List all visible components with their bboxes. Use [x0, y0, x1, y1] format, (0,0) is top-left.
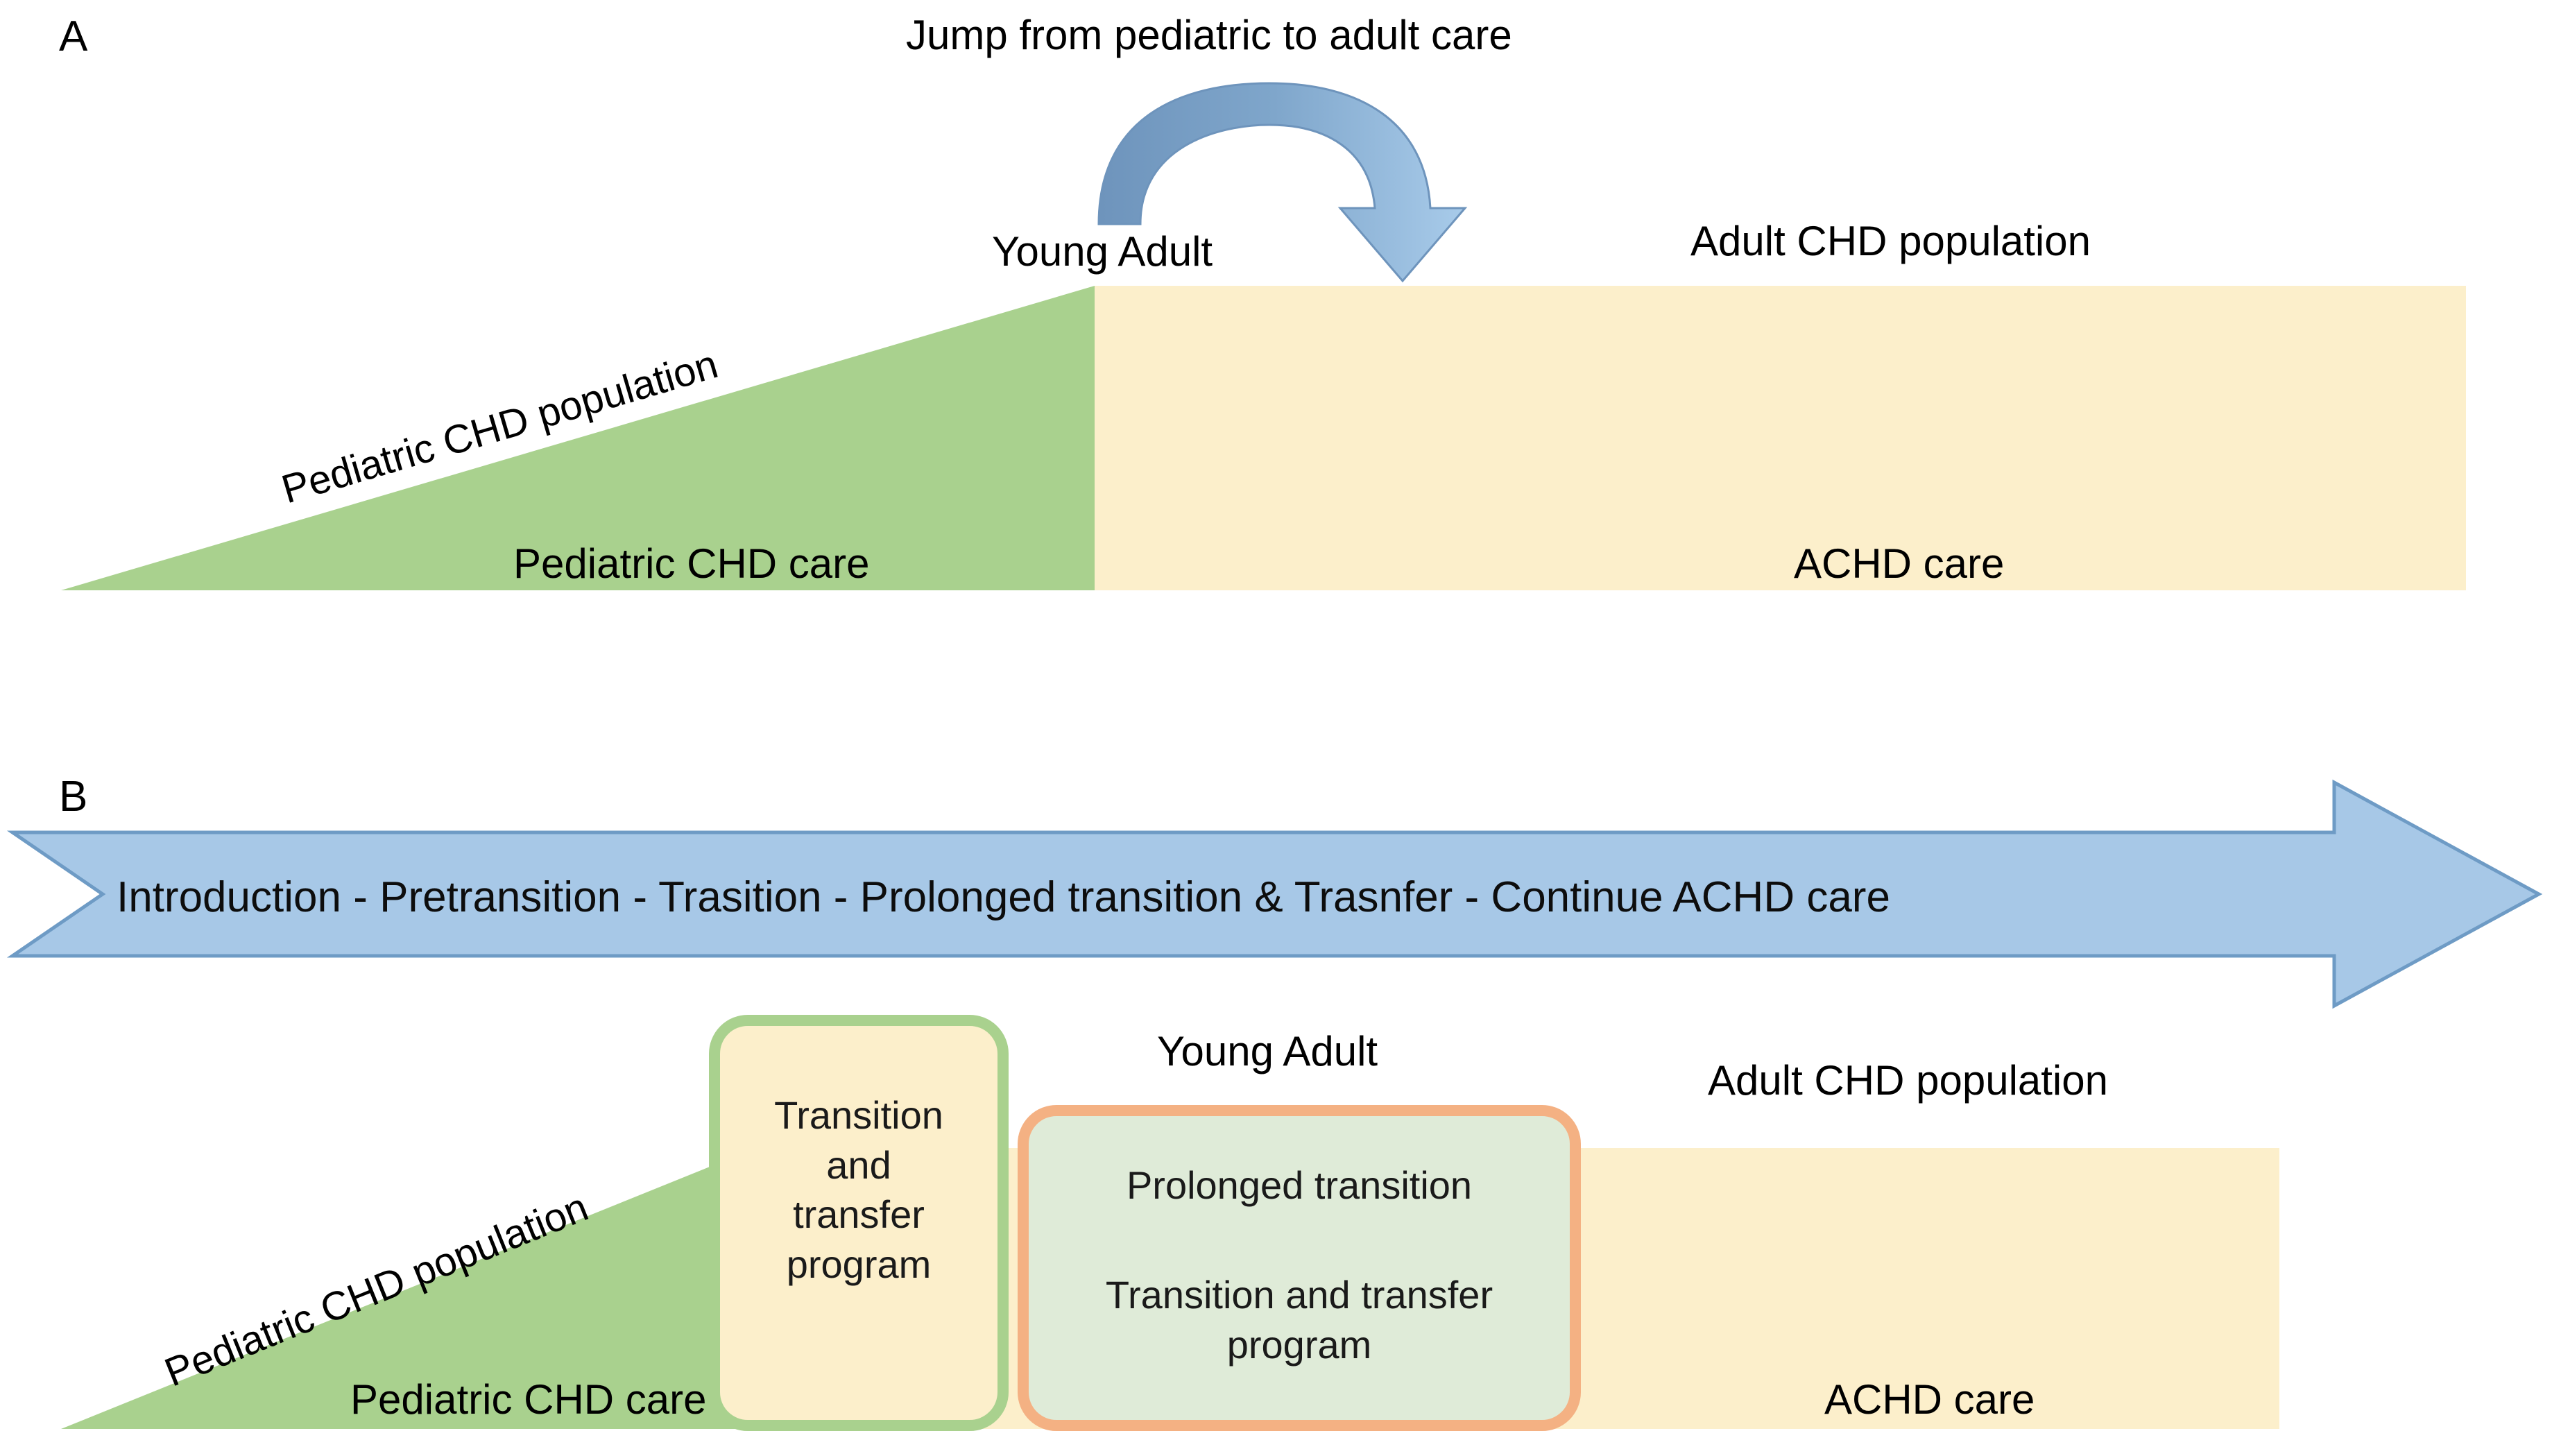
- panel-b-pediatric-care-label: Pediatric CHD care: [350, 1377, 707, 1423]
- panel-a-letter: A: [59, 15, 87, 58]
- panel-b-prolonged-line2: Transition and transfer: [1029, 1270, 1570, 1320]
- panel-a-young-adult-label: Young Adult: [992, 229, 1213, 275]
- panel-b-banner-stages[interactable]: Introduction - Pretransition - Trasition…: [117, 873, 1890, 922]
- panel-b-prolonged-transition-box[interactable]: Prolonged transition Transition and tran…: [1018, 1105, 1581, 1431]
- figure-canvas: A Jump from pediatric to adult care Youn…: [0, 0, 2552, 1456]
- panel-b-adult-population-label: Adult CHD population: [1708, 1058, 2108, 1104]
- panel-a-adult-population-label: Adult CHD population: [1690, 219, 2091, 264]
- panel-a-pediatric-population-label: Pediatric CHD population: [277, 344, 722, 511]
- panel-b-pediatric-population-label: Pediatric CHD population: [160, 1187, 594, 1394]
- panel-b-prolonged-line1: Prolonged transition: [1029, 1160, 1570, 1210]
- panel-b-achd-care-label: ACHD care: [1824, 1377, 2035, 1423]
- panel-a-achd-care-label: ACHD care: [1794, 541, 2004, 587]
- panel-a-achd-rect: [1095, 286, 2466, 590]
- panel-b-young-adult-label: Young Adult: [1157, 1029, 1378, 1074]
- panel-a-pediatric-care-label: Pediatric CHD care: [513, 541, 870, 587]
- panel-b-letter: B: [59, 776, 87, 819]
- panel-b-transition-program-box[interactable]: Transition and transfer program: [709, 1015, 1009, 1431]
- panel-a-jump-caption: Jump from pediatric to adult care: [906, 12, 1512, 58]
- panel-b-prolonged-line3: program: [1029, 1320, 1570, 1370]
- panel-b-transition-program-text: Transition and transfer program: [720, 1090, 997, 1290]
